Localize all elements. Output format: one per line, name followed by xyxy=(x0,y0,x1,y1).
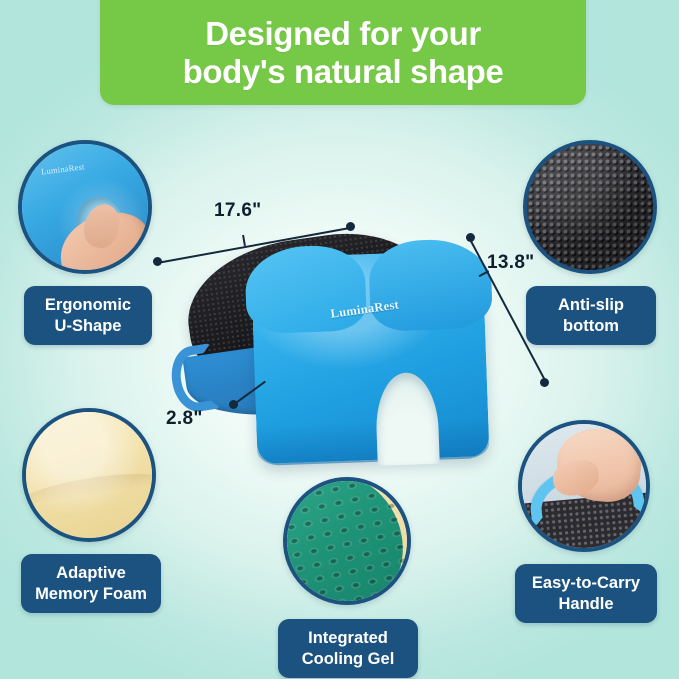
feature-adaptive-memory-foam[interactable]: Adaptive Memory Foam xyxy=(22,408,156,542)
feature-label-adaptive-memory-foam: Adaptive Memory Foam xyxy=(21,554,161,613)
cushion-right-lobe xyxy=(368,238,493,332)
feature-image-integrated-cooling-gel xyxy=(283,477,411,605)
foam-highlight-icon xyxy=(26,412,152,538)
infographic-canvas: Designed for yourbody's natural shape Lu… xyxy=(0,0,679,679)
feature-label-easy-to-carry-handle: Easy-to-Carry Handle xyxy=(515,564,657,623)
gel-dimple-texture-icon xyxy=(283,477,411,605)
headline-line-1: Designed for your xyxy=(205,15,481,52)
blue-cushion: LuminaRest xyxy=(250,250,489,464)
feature-ergonomic-u-shape[interactable]: LuminaRest Ergonomic U-Shape xyxy=(18,140,152,274)
headline-line-2: body's natural shape xyxy=(183,53,504,90)
u-shape-cutout xyxy=(375,372,440,466)
feature-label-anti-slip-bottom: Anti-slip bottom xyxy=(526,286,656,345)
surface-sheen-icon xyxy=(527,144,653,270)
dimension-width-dot-end xyxy=(346,222,355,231)
feature-image-adaptive-memory-foam xyxy=(22,408,156,542)
cushion-front-face xyxy=(256,418,489,466)
feature-anti-slip-bottom[interactable]: Anti-slip bottom xyxy=(523,140,657,274)
feature-label-integrated-cooling-gel: Integrated Cooling Gel xyxy=(278,619,418,678)
feature-image-anti-slip-bottom xyxy=(523,140,657,274)
dimension-thickness-label: 2.8" xyxy=(166,408,203,430)
feature-label-ergonomic-u-shape: Ergonomic U-Shape xyxy=(24,286,152,345)
feature-image-easy-to-carry-handle xyxy=(518,420,650,552)
header-banner: Designed for yourbody's natural shape xyxy=(100,0,586,105)
feature-integrated-cooling-gel[interactable]: Integrated Cooling Gel xyxy=(283,477,411,605)
page-title: Designed for yourbody's natural shape xyxy=(183,5,504,90)
feature-easy-to-carry-handle[interactable]: Easy-to-Carry Handle xyxy=(518,420,650,552)
feature-image-ergonomic-u-shape: LuminaRest xyxy=(18,140,152,274)
dimension-width-label: 17.6" xyxy=(214,200,262,222)
